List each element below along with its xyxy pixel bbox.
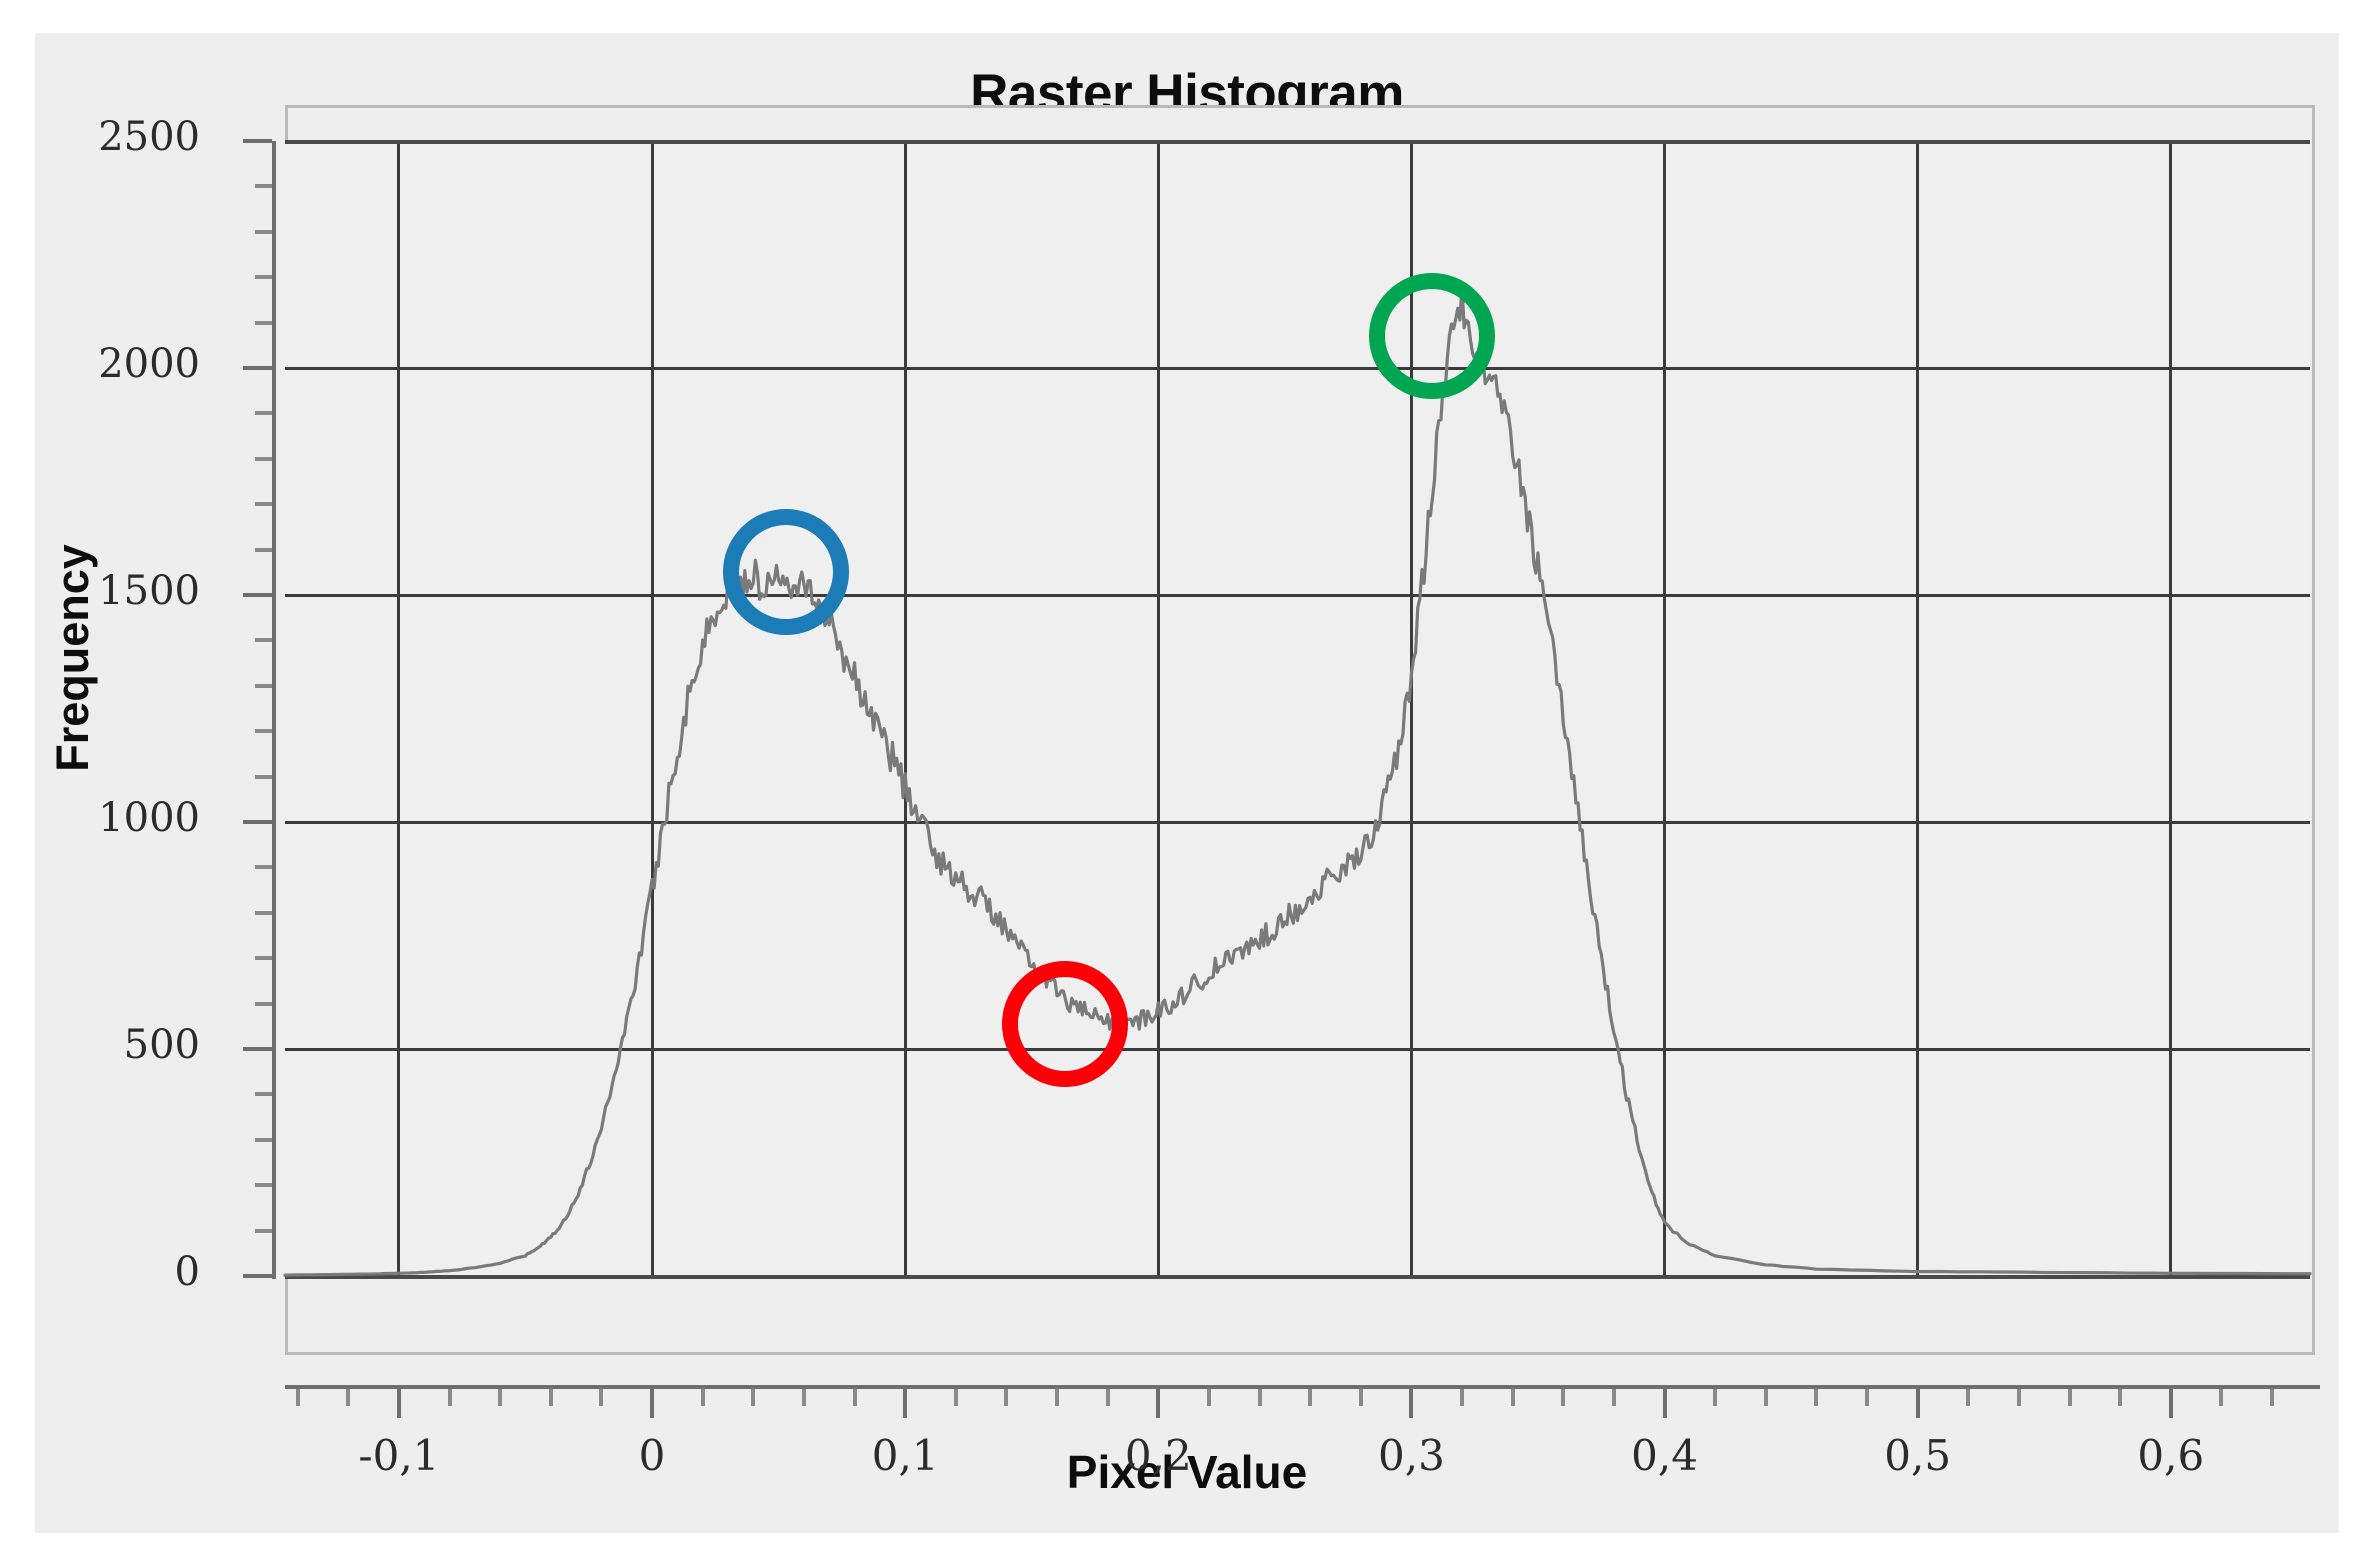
y-minor-tick (255, 911, 272, 915)
y-minor-tick (255, 411, 272, 415)
blue-circle-left-peak (723, 509, 849, 635)
x-tick-0_3 (1409, 1389, 1413, 1418)
x-minor-tick (2118, 1389, 2122, 1406)
y-minor-tick (255, 729, 272, 733)
x-minor-tick (802, 1389, 806, 1406)
y-tick-500 (243, 1047, 272, 1051)
x-minor-tick (1713, 1389, 1717, 1406)
y-minor-tick (255, 230, 272, 234)
x-minor-tick (498, 1389, 502, 1406)
y-tick-label-500: 500 (0, 1022, 200, 1068)
x-tick-label-0_5: 0,5 (1818, 1431, 2018, 1480)
x-tick-0_1 (903, 1389, 907, 1418)
x-minor-tick (1460, 1389, 1464, 1406)
x-minor-tick (751, 1389, 755, 1406)
x-minor-tick (954, 1389, 958, 1406)
x-minor-tick (2068, 1389, 2072, 1406)
x-minor-tick (448, 1389, 452, 1406)
y-minor-tick (255, 548, 272, 552)
y-minor-tick (255, 1092, 272, 1096)
y-tick-2500 (243, 139, 272, 143)
y-tick-label-1500: 1500 (0, 568, 200, 614)
y-tick-label-0: 0 (0, 1249, 200, 1295)
y-tick-2000 (243, 366, 272, 370)
x-minor-tick (1207, 1389, 1211, 1406)
y-minor-tick (255, 184, 272, 188)
x-minor-tick (346, 1389, 350, 1406)
x-minor-tick (296, 1389, 300, 1406)
y-tick-label-2000: 2000 (0, 341, 200, 387)
y-tick-label-1000: 1000 (0, 795, 200, 841)
x-tick-label-0_3: 0,3 (1311, 1431, 1511, 1480)
x-tick-0_5 (1916, 1389, 1920, 1418)
y-minor-tick (255, 1138, 272, 1142)
x-tick-label-0_4: 0,4 (1565, 1431, 1765, 1480)
x-minor-tick (2219, 1389, 2223, 1406)
x-minor-tick (1865, 1389, 1869, 1406)
y-minor-tick (255, 865, 272, 869)
x-minor-tick (2270, 1389, 2274, 1406)
x-minor-tick (1814, 1389, 1818, 1406)
y-minor-tick (255, 1183, 272, 1187)
x-axis-spine (285, 1385, 2320, 1389)
x-tick-label-0_1: 0,1 (805, 1431, 1005, 1480)
x-minor-tick (1612, 1389, 1616, 1406)
y-axis-spine (272, 141, 276, 1279)
x-minor-tick (1106, 1389, 1110, 1406)
green-circle-right-peak (1369, 273, 1495, 399)
y-minor-tick (255, 1002, 272, 1006)
y-minor-tick (255, 1229, 272, 1233)
x-minor-tick (1004, 1389, 1008, 1406)
x-minor-tick (2017, 1389, 2021, 1406)
x-minor-tick (853, 1389, 857, 1406)
x-minor-tick (599, 1389, 603, 1406)
y-minor-tick (255, 321, 272, 325)
y-tick-1000 (243, 820, 272, 824)
y-minor-tick (255, 502, 272, 506)
y-tick-0 (243, 1274, 272, 1278)
x-minor-tick (1055, 1389, 1059, 1406)
x-minor-tick (1511, 1389, 1515, 1406)
y-axis-title: Frequency (43, 498, 103, 818)
x-minor-tick (1359, 1389, 1363, 1406)
histogram-curve (285, 141, 2310, 1276)
x-minor-tick (1308, 1389, 1312, 1406)
y-minor-tick (255, 457, 272, 461)
y-minor-tick (255, 956, 272, 960)
x-tick-_0_1 (397, 1389, 401, 1418)
x-minor-tick (1561, 1389, 1565, 1406)
x-minor-tick (1764, 1389, 1768, 1406)
y-minor-tick (255, 275, 272, 279)
x-tick-0_6 (2169, 1389, 2173, 1418)
x-tick-0 (650, 1389, 654, 1418)
y-tick-1500 (243, 593, 272, 597)
x-minor-tick (1258, 1389, 1262, 1406)
red-circle-valley (1002, 961, 1128, 1087)
chart-figure: Raster Histogram Frequency Pixel Value 0… (35, 33, 2339, 1533)
y-minor-tick (255, 638, 272, 642)
x-tick-label-0: 0 (552, 1431, 752, 1480)
x-tick-label-_0_1: -0,1 (299, 1431, 499, 1480)
y-minor-tick (255, 775, 272, 779)
x-tick-label-0_2: 0,2 (1058, 1431, 1258, 1480)
y-minor-tick (255, 684, 272, 688)
x-minor-tick (701, 1389, 705, 1406)
x-tick-0_2 (1156, 1389, 1160, 1418)
x-tick-0_4 (1663, 1389, 1667, 1418)
x-minor-tick (549, 1389, 553, 1406)
y-tick-label-2500: 2500 (0, 114, 200, 160)
x-minor-tick (1966, 1389, 1970, 1406)
x-tick-label-0_6: 0,6 (2071, 1431, 2271, 1480)
